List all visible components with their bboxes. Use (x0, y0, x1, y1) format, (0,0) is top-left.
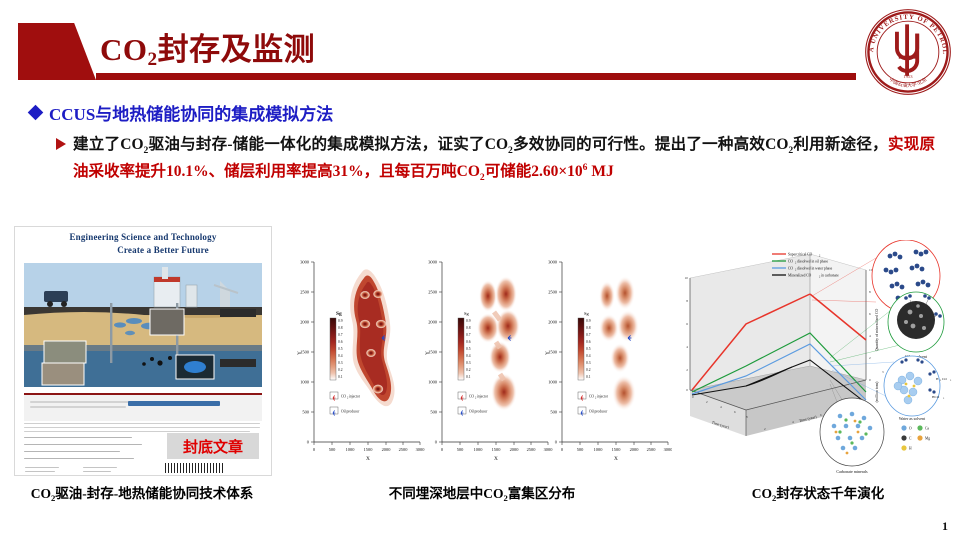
bullet-segment: 可储能2.60×10 (485, 163, 583, 180)
svg-text:1500: 1500 (492, 447, 502, 452)
caption-figure-3: CO2封存状态千年演化 (676, 482, 960, 502)
svg-text:0: 0 (307, 440, 310, 445)
svg-text:Water as solvent: Water as solvent (899, 416, 926, 421)
svg-text:6: 6 (869, 312, 871, 316)
svg-text:3: 3 (943, 397, 945, 400)
caption-1-sub: 2 (51, 493, 55, 503)
svg-text:4: 4 (686, 345, 688, 349)
svg-text:Sg: Sg (336, 311, 342, 317)
cover-abstract-band (24, 393, 262, 421)
page-title-subscript: 2 (148, 49, 158, 70)
svg-text:0.8: 0.8 (466, 326, 471, 330)
svg-text:injector: injector (597, 395, 609, 399)
svg-text:10: 10 (685, 276, 689, 280)
svg-text:0.9: 0.9 (586, 319, 591, 323)
caption-3-b: 封存状态千年演化 (776, 486, 884, 501)
svg-text:Carbonate minerals: Carbonate minerals (836, 469, 868, 474)
svg-text:injector: injector (349, 395, 361, 399)
svg-text:Ca: Ca (925, 427, 929, 431)
figure-journal-cover: Engineering Science and Technology Creat… (14, 226, 272, 476)
caption-figure-2: 不同埋深地层中CO2富集区分布 (292, 482, 672, 502)
svg-text:0.5: 0.5 (466, 347, 471, 351)
caption-figure-1: CO2驱油-封存-地热储能协同技术体系 (0, 482, 284, 502)
bullet-segment: 2 (480, 172, 485, 183)
header-rule (96, 73, 856, 80)
svg-text:0.4: 0.4 (338, 354, 343, 358)
ccus-schematic-icon (24, 263, 262, 387)
svg-text:X: X (494, 456, 498, 462)
svg-text:3000: 3000 (416, 447, 426, 452)
svg-text:Mg: Mg (925, 437, 930, 441)
svg-text:0.9: 0.9 (338, 319, 343, 323)
back-cover-badge: 封底文章 (167, 433, 259, 459)
svg-text:X: X (366, 456, 370, 462)
slide-header: CO2封存及监测 (0, 0, 960, 92)
svg-text:1000: 1000 (428, 380, 438, 385)
svg-text:1000: 1000 (300, 380, 310, 385)
caption-2-b: 富集区分布 (508, 486, 576, 501)
svg-text:0: 0 (441, 447, 444, 452)
svg-text:0.6: 0.6 (338, 340, 343, 344)
svg-text:0: 0 (869, 378, 871, 382)
svg-text:Sg: Sg (464, 311, 470, 316)
svg-text:500: 500 (302, 410, 309, 415)
svg-text:injector: injector (477, 395, 489, 399)
bullet-segment: 多效协同的可行性。提出了一种高效CO (513, 136, 789, 153)
bullet-segment: MJ (587, 163, 613, 180)
diamond-bullet-icon (28, 105, 44, 121)
svg-text:0.2: 0.2 (586, 368, 591, 372)
arrow-bullet-icon (56, 138, 66, 150)
element-legend: O Ca C Mg H (901, 425, 930, 450)
co2-storage-state-3d-chart: 1086 420 1086 420 Quantity of mineralize… (680, 240, 958, 478)
svg-text:0.6: 0.6 (466, 340, 471, 344)
svg-text:2000: 2000 (300, 320, 310, 325)
inset-oil-solvent: Oil as solvent (888, 292, 944, 359)
svg-text:0.3: 0.3 (338, 361, 343, 365)
university-logo: CHINA UNIVERSITY OF PETROLEUM 中国石油大学·北京 … (862, 6, 954, 98)
svg-text:0.3: 0.3 (586, 361, 591, 365)
svg-text:500: 500 (329, 447, 336, 452)
svg-text:3000: 3000 (548, 260, 558, 265)
inset-carbonate-minerals: Carbonate minerals (820, 398, 884, 474)
svg-text:2: 2 (869, 356, 871, 360)
svg-text:0.8: 0.8 (338, 326, 343, 330)
bullet-segment: 2 (788, 145, 793, 156)
svg-text:3000: 3000 (664, 447, 672, 452)
bullet-segment: 2 (144, 145, 149, 156)
page-title-prefix: CO (100, 32, 148, 67)
svg-text:8: 8 (686, 299, 688, 303)
svg-text:X: X (614, 456, 618, 462)
svg-text:Mineralized CO: Mineralized CO (788, 273, 812, 277)
figure-storage-evolution: 1086 420 1086 420 Quantity of mineralize… (680, 240, 958, 478)
svg-text:0: 0 (686, 388, 688, 392)
cover-tagline-line2: Create a Better Future (15, 244, 271, 257)
svg-text:0: 0 (555, 440, 558, 445)
svg-text:Y: Y (297, 351, 303, 355)
bullet-level1-label: CCUS与地热储能协同的集成模拟方法 (49, 100, 333, 125)
svg-text:0.4: 0.4 (586, 354, 591, 358)
svg-text:500: 500 (430, 410, 437, 415)
svg-text:C: C (909, 437, 912, 441)
svg-text:2: 2 (882, 371, 885, 373)
svg-text:2500: 2500 (647, 447, 657, 452)
caption-1-b: 驱油-封存-地热储能协同技术体系 (55, 486, 253, 501)
svg-text:H: H (909, 447, 912, 451)
inset-water-solvent: H 2 CO 3 HCO 3 Water as solvent (884, 356, 952, 421)
svg-text:0.4: 0.4 (466, 354, 471, 358)
svg-text:2500: 2500 (300, 290, 310, 295)
svg-text:2500: 2500 (527, 447, 537, 452)
svg-text:dissolved in oil phase: dissolved in oil phase (797, 259, 828, 263)
svg-text:0.1: 0.1 (338, 375, 343, 379)
svg-text:0: 0 (561, 447, 564, 452)
svg-text:3: 3 (950, 379, 952, 382)
svg-text:Y: Y (425, 351, 431, 355)
caption-1-a: CO (31, 486, 51, 501)
cover-tagline: Engineering Science and Technology Creat… (15, 231, 271, 257)
svg-text:CO: CO (788, 259, 793, 263)
svg-text:0: 0 (313, 447, 316, 452)
barcode-icon (165, 463, 223, 473)
svg-text:500: 500 (550, 410, 557, 415)
header-accent-shape (18, 23, 96, 80)
svg-text:0.5: 0.5 (586, 347, 591, 351)
svg-text:2: 2 (686, 368, 688, 372)
svg-text:3000: 3000 (544, 447, 554, 452)
svg-text:CO: CO (942, 377, 947, 381)
svg-text:0.5: 0.5 (338, 347, 343, 351)
svg-text:O: O (909, 427, 912, 431)
caption-2-sub: 2 (503, 493, 507, 503)
svg-text:2500: 2500 (548, 290, 558, 295)
svg-text:1000: 1000 (474, 447, 484, 452)
svg-text:HCO: HCO (932, 395, 940, 399)
svg-text:CO: CO (788, 266, 793, 270)
svg-text:0.3: 0.3 (466, 361, 471, 365)
svg-text:0.7: 0.7 (338, 333, 343, 337)
svg-text:2000: 2000 (382, 447, 392, 452)
cover-illustration (24, 263, 262, 387)
svg-text:0.1: 0.1 (466, 375, 471, 379)
svg-text:0.2: 0.2 (338, 368, 343, 372)
svg-text:Supercritical CO: Supercritical CO (788, 252, 813, 256)
svg-text:2500: 2500 (428, 290, 438, 295)
svg-text:0: 0 (435, 440, 438, 445)
page-title-rest: 封存及监测 (158, 32, 316, 67)
caption-3-a: CO (752, 486, 772, 501)
svg-text:1000: 1000 (346, 447, 356, 452)
svg-text:0.7: 0.7 (466, 333, 471, 337)
svg-text:500: 500 (457, 447, 464, 452)
svg-text:CO: CO (589, 395, 594, 399)
svg-text:0.1: 0.1 (586, 375, 591, 379)
svg-text:0.8: 0.8 (586, 326, 591, 330)
caption-3-sub: 2 (772, 493, 776, 503)
svg-text:Oil producer: Oil producer (469, 410, 488, 414)
figure-contour-maps: 30002500 20001500 1000500 0 05001000 150… (292, 252, 672, 474)
svg-text:2000: 2000 (548, 320, 558, 325)
svg-text:2000: 2000 (510, 447, 520, 452)
svg-text:6: 6 (686, 322, 688, 326)
svg-text:2000: 2000 (428, 320, 438, 325)
svg-text:3000: 3000 (300, 260, 310, 265)
cover-tagline-line1: Engineering Science and Technology (69, 232, 216, 242)
svg-text:Oil producer: Oil producer (341, 410, 360, 414)
bullet-level2-text: 建立了CO2驱油与封存-储能一体化的集成模拟方法，证实了CO2多效协同的可行性。… (73, 132, 935, 185)
svg-text:0.6: 0.6 (586, 340, 591, 344)
svg-text:3000: 3000 (428, 260, 438, 265)
svg-text:2500: 2500 (399, 447, 409, 452)
bullet-segment: 驱油与封存-储能一体化的集成模拟方法，证实了CO (148, 136, 508, 153)
bullet-segment: 建立了CO (73, 136, 144, 153)
svg-text:CO: CO (341, 395, 346, 399)
page-number: 1 (942, 519, 948, 534)
svg-text:4: 4 (869, 334, 871, 338)
university-seal-icon: CHINA UNIVERSITY OF PETROLEUM 中国石油大学·北京 … (862, 6, 954, 98)
svg-text:0.7: 0.7 (586, 333, 591, 337)
svg-text:Oil producer: Oil producer (589, 410, 608, 414)
svg-text:2000: 2000 (630, 447, 640, 452)
svg-text:1500: 1500 (612, 447, 622, 452)
co2-saturation-contours-chart: 30002500 20001500 1000500 0 05001000 150… (292, 252, 672, 474)
bullet-segment: 利用新途径， (793, 136, 888, 153)
page-title: CO2封存及监测 (100, 24, 315, 69)
caption-2-a: 不同埋深地层中CO (389, 486, 504, 501)
bullet-segment: 6 (583, 162, 588, 173)
svg-text:1500: 1500 (364, 447, 374, 452)
svg-text:500: 500 (577, 447, 584, 452)
svg-text:8: 8 (869, 290, 871, 294)
svg-text:dissolved in water phase: dissolved in water phase (797, 266, 833, 270)
bullet-level1: CCUS与地热储能协同的集成模拟方法 (30, 100, 333, 125)
svg-text:Quantity of mineralized CO: Quantity of mineralized CO (875, 308, 879, 351)
bullet-level2: 建立了CO2驱油与封存-储能一体化的集成模拟方法，证实了CO2多效协同的可行性。… (56, 132, 946, 185)
svg-text:Y: Y (545, 351, 551, 355)
svg-text:Sg: Sg (584, 311, 590, 316)
svg-text:CO: CO (469, 395, 474, 399)
svg-text:0.9: 0.9 (466, 319, 471, 323)
svg-text:1000: 1000 (594, 447, 604, 452)
svg-text:in carbonate: in carbonate (821, 273, 839, 277)
bullet-segment: 2 (508, 145, 513, 156)
svg-text:0.2: 0.2 (466, 368, 471, 372)
svg-text:1000: 1000 (548, 380, 558, 385)
